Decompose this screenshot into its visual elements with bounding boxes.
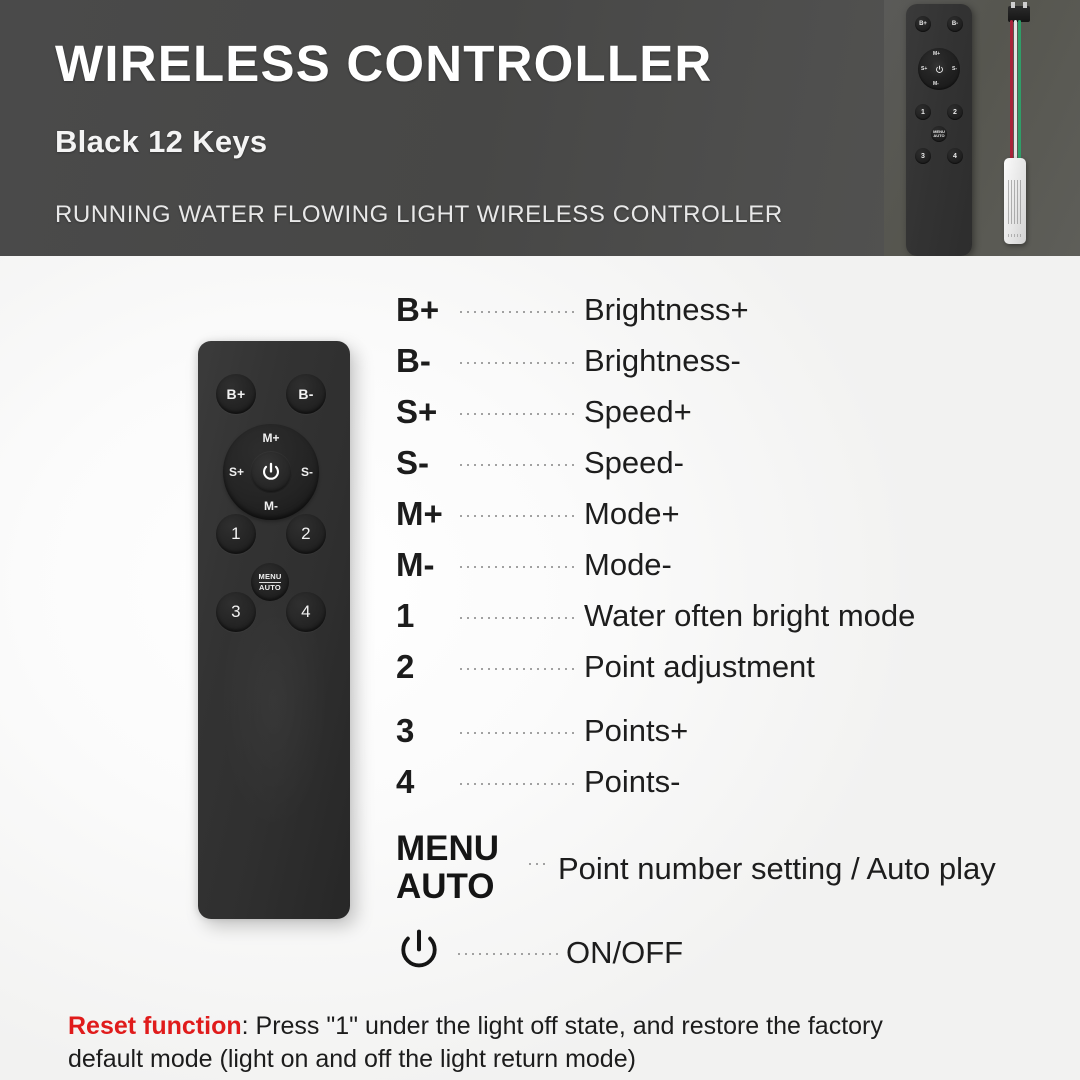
legend-value: Water often bright mode bbox=[584, 600, 915, 631]
leader-dots bbox=[458, 777, 576, 791]
remote-button-2[interactable]: 2 bbox=[286, 514, 326, 554]
photo-remote-button-bplus: B+ bbox=[915, 16, 931, 32]
photo-mini-controller-assembly bbox=[980, 6, 1064, 250]
remote-button-bminus[interactable]: B- bbox=[286, 374, 326, 414]
reset-text-line1: : Press "1" under the light off state, a… bbox=[242, 1012, 883, 1040]
legend-value: Speed+ bbox=[584, 396, 692, 427]
reset-function-note: Reset function: Press "1" under the ligh… bbox=[68, 1010, 1048, 1080]
header-subtitle: Black 12 Keys bbox=[55, 126, 267, 157]
legend-row-3: 3 Points+ bbox=[396, 705, 1056, 756]
remote-button-3[interactable]: 3 bbox=[216, 592, 256, 632]
remote-button-bplus[interactable]: B+ bbox=[216, 374, 256, 414]
legend-key: 3 bbox=[396, 714, 458, 747]
photo-remote-button-3: 3 bbox=[915, 148, 931, 164]
power-icon bbox=[260, 461, 282, 483]
legend-row-2: 2 Point adjustment bbox=[396, 641, 1056, 692]
photo-remote-button-1: 1 bbox=[915, 104, 931, 120]
photo-power-button bbox=[930, 60, 948, 78]
leader-dots bbox=[458, 407, 576, 421]
photo-remote: B+ B- M+ S+ S- M- 1 2 bbox=[906, 4, 972, 256]
legend-row-1: 1 Water often bright mode bbox=[396, 590, 1056, 641]
remote-button-menu-auto[interactable]: MENU AUTO bbox=[251, 563, 289, 601]
legend-row-mminus: M- Mode- bbox=[396, 539, 1056, 590]
legend-key: S- bbox=[396, 446, 458, 479]
remote-dpad-splus[interactable]: S+ bbox=[229, 465, 244, 479]
legend-key: 1 bbox=[396, 599, 458, 632]
leader-dots bbox=[458, 726, 576, 740]
photo-remote-button-4: 4 bbox=[947, 148, 963, 164]
legend-row-splus: S+ Speed+ bbox=[396, 386, 1056, 437]
legend-value: Point number setting / Auto play bbox=[558, 853, 996, 884]
leader-dots bbox=[458, 947, 558, 961]
header-banner: WIRELESS CONTROLLER Black 12 Keys RUNNIN… bbox=[0, 0, 1080, 256]
power-icon bbox=[396, 926, 458, 978]
leader-dots bbox=[458, 305, 576, 319]
legend-value: Points- bbox=[584, 766, 680, 797]
header-text-block: WIRELESS CONTROLLER Black 12 Keys RUNNIN… bbox=[55, 0, 875, 256]
legend-row-mplus: M+ Mode+ bbox=[396, 488, 1056, 539]
remote-dpad-mplus[interactable]: M+ bbox=[223, 431, 319, 445]
legend-key: 2 bbox=[396, 650, 458, 683]
leader-dots bbox=[526, 857, 548, 871]
remote-dpad[interactable]: M+ S+ S- M- bbox=[223, 424, 319, 520]
legend-value: Brightness+ bbox=[584, 294, 749, 325]
remote-dpad-sminus[interactable]: S- bbox=[301, 465, 313, 479]
legend-value: Mode+ bbox=[584, 498, 680, 529]
controller-print-text bbox=[1008, 180, 1022, 224]
remote-dpad-mminus[interactable]: M- bbox=[223, 499, 319, 513]
leader-dots bbox=[458, 662, 576, 676]
leader-dots bbox=[458, 611, 576, 625]
legend-key: B+ bbox=[396, 293, 458, 326]
power-icon bbox=[935, 65, 944, 74]
remote-menu-line1: MENU bbox=[259, 573, 282, 581]
reset-text-line2: default mode (light on and off the light… bbox=[68, 1045, 636, 1073]
product-photo-panel: B+ B- M+ S+ S- M- 1 2 bbox=[884, 0, 1080, 256]
controller-print-model bbox=[1008, 234, 1022, 237]
legend-key: M- bbox=[396, 548, 458, 581]
leader-dots bbox=[458, 560, 576, 574]
leader-dots bbox=[458, 356, 576, 370]
inline-mini-controller bbox=[1004, 158, 1026, 244]
leader-dots bbox=[458, 509, 576, 523]
key-legend: B+ Brightness+ B- Brightness- S+ Speed+ … bbox=[396, 284, 1056, 987]
legend-row-menu-auto: MENU AUTO Point number setting / Auto pl… bbox=[396, 829, 1056, 907]
legend-row-sminus: S- Speed- bbox=[396, 437, 1056, 488]
main-content: B+ B- M+ S+ S- M- 1 2 MENU AUTO bbox=[0, 256, 1080, 1080]
photo-remote-dpad: M+ S+ S- M- bbox=[918, 48, 960, 90]
reset-text-line3 bbox=[68, 1075, 1048, 1080]
wire-green bbox=[1018, 20, 1021, 164]
remote-power-button[interactable] bbox=[250, 451, 292, 493]
legend-row-4: 4 Points- bbox=[396, 756, 1056, 807]
photo-dpad-sminus: S- bbox=[952, 66, 957, 72]
legend-row-power: ON/OFF bbox=[396, 917, 1056, 987]
legend-row-bplus: B+ Brightness+ bbox=[396, 284, 1056, 335]
legend-row-bminus: B- Brightness- bbox=[396, 335, 1056, 386]
legend-value: Points+ bbox=[584, 715, 688, 746]
photo-menu-line2: AUTO bbox=[933, 134, 944, 138]
wire-white bbox=[1014, 20, 1017, 164]
legend-value: Speed- bbox=[584, 447, 684, 478]
legend-value: Point adjustment bbox=[584, 651, 815, 682]
reset-label: Reset function bbox=[68, 1012, 242, 1040]
product-infographic: WIRELESS CONTROLLER Black 12 Keys RUNNIN… bbox=[0, 0, 1080, 1080]
legend-value: Brightness- bbox=[584, 345, 741, 376]
legend-key: S+ bbox=[396, 395, 458, 428]
photo-dpad-splus: S+ bbox=[921, 66, 927, 72]
photo-remote-button-bminus: B- bbox=[947, 16, 963, 32]
legend-key-menu-line2: AUTO bbox=[396, 868, 524, 906]
legend-key: B- bbox=[396, 344, 458, 377]
leader-dots bbox=[458, 458, 576, 472]
photo-remote-button-2: 2 bbox=[947, 104, 963, 120]
page-title: WIRELESS CONTROLLER bbox=[55, 38, 712, 89]
legend-key: M+ bbox=[396, 497, 458, 530]
remote-button-1[interactable]: 1 bbox=[216, 514, 256, 554]
legend-value: Mode- bbox=[584, 549, 672, 580]
legend-key: 4 bbox=[396, 765, 458, 798]
photo-dpad-mplus: M+ bbox=[933, 51, 940, 57]
wire-red bbox=[1010, 20, 1013, 164]
photo-dpad-mminus: M- bbox=[933, 81, 939, 87]
legend-key-menu-line1: MENU bbox=[396, 830, 524, 868]
photo-remote-button-menu: MENU AUTO bbox=[931, 126, 947, 142]
remote-button-4[interactable]: 4 bbox=[286, 592, 326, 632]
legend-key-menu: MENU AUTO bbox=[396, 830, 524, 906]
remote-illustration: B+ B- M+ S+ S- M- 1 2 MENU AUTO bbox=[198, 341, 350, 919]
remote-menu-line2: AUTO bbox=[259, 584, 281, 592]
legend-value: ON/OFF bbox=[566, 937, 683, 968]
header-description: RUNNING WATER FLOWING LIGHT WIRELESS CON… bbox=[55, 203, 783, 227]
